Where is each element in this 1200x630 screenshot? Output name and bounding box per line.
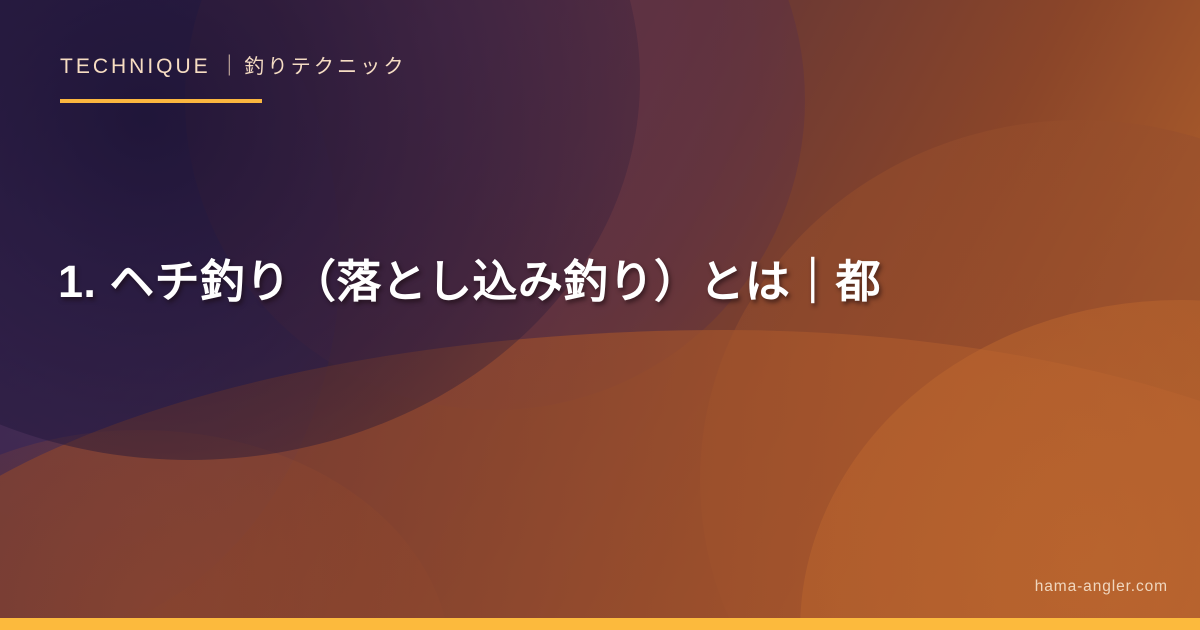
site-domain: hama-angler.com [1035, 578, 1168, 596]
category-eyebrow: TECHNIQUE ｜ 釣りテクニック [60, 54, 407, 79]
category-label-ja: 釣りテクニック [244, 55, 406, 79]
card-content: TECHNIQUE ｜ 釣りテクニック 1. ヘチ釣り（落とし込み釣り）とは｜都… [0, 0, 1200, 630]
category-label-en: TECHNIQUE [60, 54, 211, 79]
og-card: TECHNIQUE ｜ 釣りテクニック 1. ヘチ釣り（落とし込み釣り）とは｜都… [0, 0, 1200, 630]
category-separator: ｜ [219, 54, 243, 79]
page-title: 1. ヘチ釣り（落とし込み釣り）とは｜都 [58, 252, 1138, 312]
category-accent-rule [60, 99, 262, 103]
category-eyebrow-text: TECHNIQUE ｜ 釣りテクニック [60, 54, 407, 79]
bottom-accent-bar [0, 618, 1200, 630]
